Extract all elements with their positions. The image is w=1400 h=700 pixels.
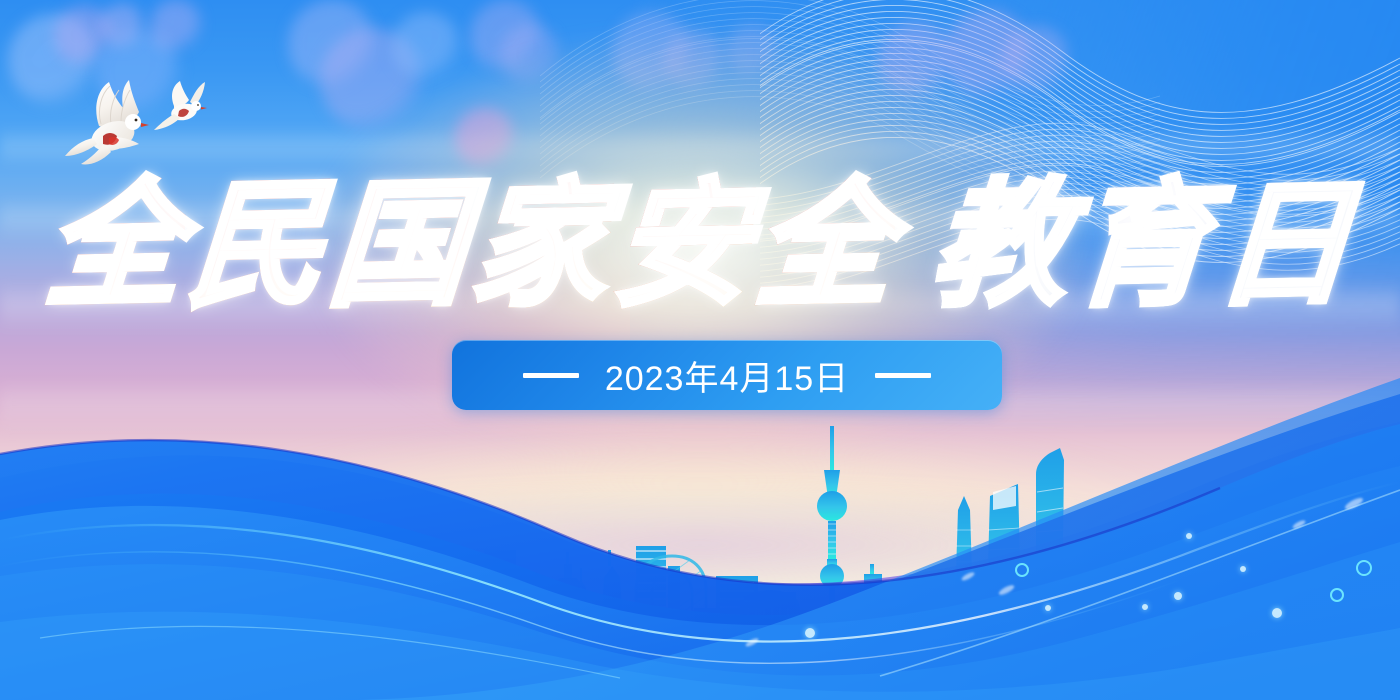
bokeh-circle-7 [392,12,460,80]
light-particle-ring-14 [1015,563,1029,577]
light-particle-dot-3 [1174,592,1182,600]
main-title-wrapper: 全民国家安全教育日 [0,160,1400,330]
poster-canvas: 全民国家安全教育日 2023年4月15日 [0,0,1400,700]
title-char-1: 民 [183,176,330,315]
main-title-calligraphy: 全民国家安全教育日 [46,177,1354,313]
title-char-3: 家 [467,176,614,315]
dove-small-icon [150,76,216,142]
title-char-2: 国 [325,176,472,315]
light-particle-dot-4 [1045,605,1051,611]
title-char-0: 全 [41,176,188,315]
title-char-4: 安 [609,176,756,315]
light-particle-dot-7 [1186,533,1192,539]
bokeh-circle-3 [150,0,202,52]
title-char-5: 全 [751,176,898,315]
light-particle-dot-8 [1240,566,1246,572]
light-particle-dot-9 [1142,604,1148,610]
light-particle-ring-1 [1330,588,1344,602]
light-particle-dot-10 [805,628,815,638]
light-particle-ring-0 [1356,560,1372,576]
title-word-gap [898,245,928,246]
bokeh-circle-16 [1002,26,1070,94]
bokeh-circle-4 [100,4,144,48]
title-char-8: 日 [1211,176,1358,315]
title-char-7: 育 [1069,176,1216,315]
light-particle-dot-2 [1272,608,1282,618]
title-char-6: 教 [927,176,1074,315]
